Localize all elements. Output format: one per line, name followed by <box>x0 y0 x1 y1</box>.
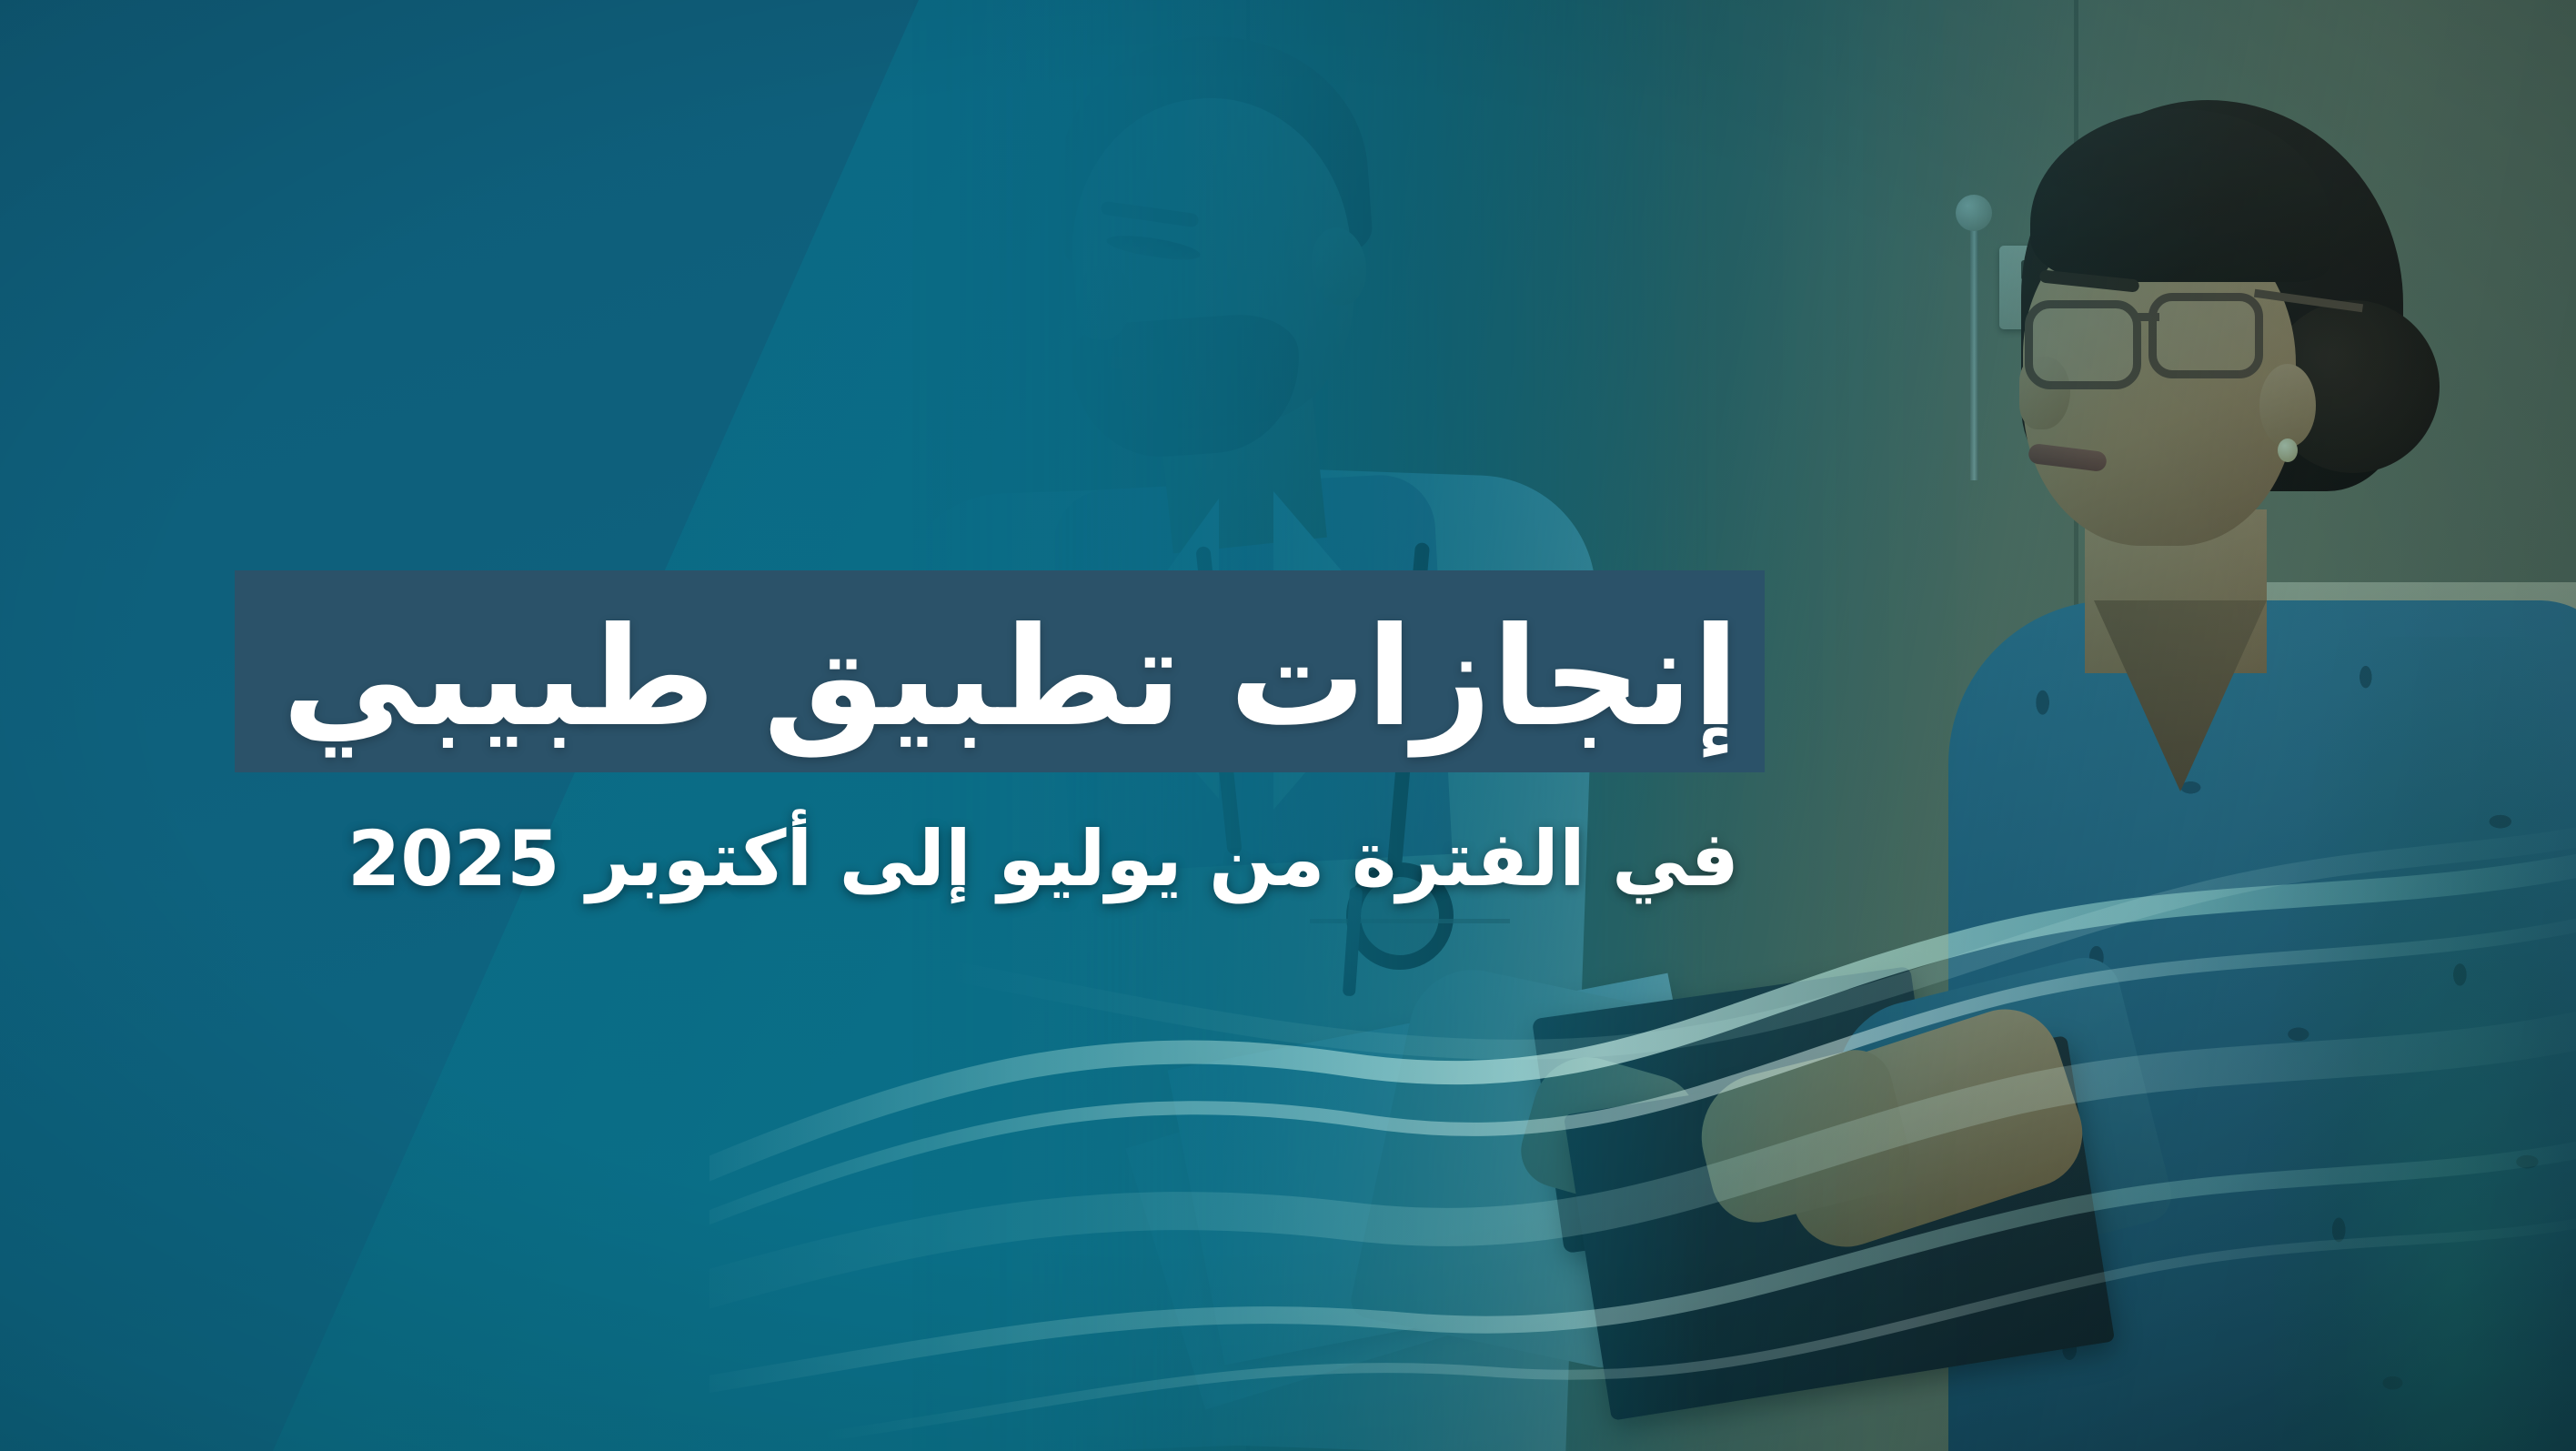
page-title: إنجازات تطبيق طبيبي <box>235 546 1765 810</box>
subtitle-period-label: في الفترة من يوليو إلى أكتوبر <box>587 819 1739 899</box>
promotional-banner: إنجازات تطبيق طبيبي في الفترة من يوليو إ… <box>0 0 2576 1451</box>
subtitle-year: 2025 <box>347 819 560 899</box>
page-subtitle: في الفترة من يوليو إلى أكتوبر 2025 <box>235 801 1765 917</box>
photo-green-tint <box>2274 637 2576 1451</box>
